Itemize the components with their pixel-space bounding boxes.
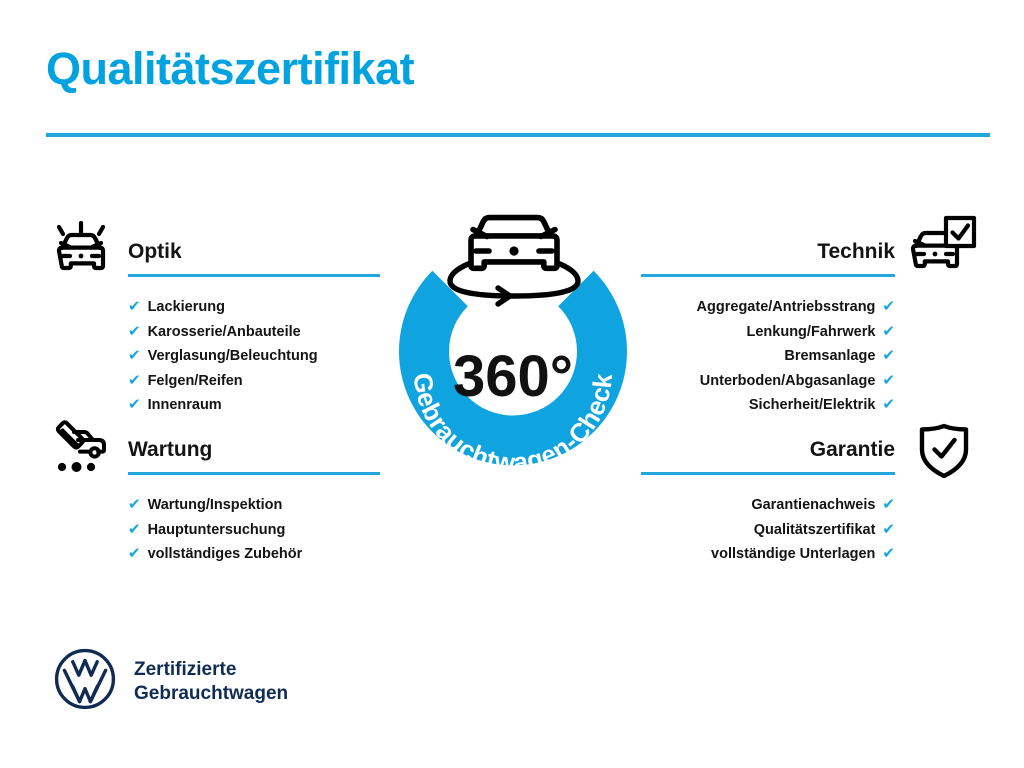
footer-logo-lockup: Zertifizierte Gebrauchtwagen — [54, 648, 288, 715]
car-checkbox-icon — [910, 214, 978, 281]
vw-logo — [54, 648, 116, 715]
list-item: ✔ Innenraum — [128, 393, 380, 418]
list-item-label: Bremsanlage — [784, 345, 875, 369]
service-book-pencil-car-icon — [48, 417, 114, 480]
check-icon: ✔ — [882, 393, 895, 417]
badge-360-check: 360° Gebrauchtwagen-Check — [370, 196, 656, 486]
car-shine-icon — [48, 213, 114, 284]
list-item: ✔ Verglasung/Beleuchtung — [128, 344, 380, 369]
check-icon: ✔ — [882, 542, 895, 566]
section-technik: Technik Aggregate/Antriebsstrang ✔ Lenku… — [641, 238, 895, 418]
list-item: Unterboden/Abgasanlage ✔ — [641, 369, 895, 394]
check-icon: ✔ — [882, 320, 895, 344]
list-item: Bremsanlage ✔ — [641, 344, 895, 369]
section-header: Technik — [641, 238, 895, 278]
check-icon: ✔ — [128, 393, 141, 417]
check-icon: ✔ — [128, 320, 141, 344]
section-divider — [128, 274, 380, 277]
check-icon: ✔ — [128, 493, 141, 517]
title-divider — [46, 133, 990, 137]
list-item-label: Felgen/Reifen — [148, 370, 243, 394]
footer-line-1: Zertifizierte — [134, 659, 236, 680]
checklist-technik: Aggregate/Antriebsstrang ✔ Lenkung/Fahrw… — [641, 295, 895, 418]
section-divider — [641, 472, 895, 475]
checklist-garantie: Garantienachweis ✔ Qualitätszertifikat ✔… — [641, 493, 895, 567]
list-item-label: Sicherheit/Elektrik — [749, 394, 876, 418]
page-title: Qualitätszertifikat — [46, 44, 414, 94]
list-item: Qualitätszertifikat ✔ — [641, 518, 895, 543]
section-optik: Optik ✔ Lackierung ✔ Karosserie/Anbautei… — [128, 238, 380, 418]
footer-line-2: Gebrauchtwagen — [134, 683, 288, 704]
list-item: Lenkung/Fahrwerk ✔ — [641, 320, 895, 345]
list-item: ✔ Karosserie/Anbauteile — [128, 320, 380, 345]
list-item-label: Hauptuntersuchung — [148, 519, 286, 543]
check-icon: ✔ — [882, 344, 895, 368]
list-item: vollständige Unterlagen ✔ — [641, 542, 895, 567]
certificate-page: Qualitätszertifikat Optik ✔ Lackierung — [0, 0, 1024, 768]
list-item-label: Lenkung/Fahrwerk — [747, 321, 876, 345]
car-rotation-icon — [450, 218, 578, 304]
list-item: ✔ vollständiges Zubehör — [128, 542, 380, 567]
list-item: ✔ Lackierung — [128, 295, 380, 320]
list-item: ✔ Felgen/Reifen — [128, 369, 380, 394]
check-icon: ✔ — [128, 542, 141, 566]
list-item-label: Verglasung/Beleuchtung — [148, 345, 318, 369]
section-title: Wartung — [128, 436, 380, 464]
shield-check-icon — [917, 422, 971, 485]
section-garantie: Garantie Garantienachweis ✔ Qualitätszer… — [641, 436, 895, 567]
list-item-label: Qualitätszertifikat — [754, 519, 876, 543]
section-divider — [641, 274, 895, 277]
check-icon: ✔ — [882, 295, 895, 319]
list-item-label: vollständiges Zubehör — [148, 543, 303, 567]
check-icon: ✔ — [128, 295, 141, 319]
check-icon: ✔ — [128, 369, 141, 393]
checklist-wartung: ✔ Wartung/Inspektion ✔ Hauptuntersuchung… — [128, 493, 380, 567]
footer-logo-text: Zertifizierte Gebrauchtwagen — [134, 658, 288, 706]
list-item-label: Karosserie/Anbauteile — [148, 321, 301, 345]
list-item-label: Unterboden/Abgasanlage — [700, 370, 876, 394]
list-item-label: Aggregate/Antriebsstrang — [697, 296, 876, 320]
list-item-label: Garantienachweis — [751, 494, 875, 518]
checklist-optik: ✔ Lackierung ✔ Karosserie/Anbauteile ✔ V… — [128, 295, 380, 418]
section-title: Optik — [128, 238, 380, 266]
list-item-label: Innenraum — [148, 394, 222, 418]
check-icon: ✔ — [128, 344, 141, 368]
list-item: Sicherheit/Elektrik ✔ — [641, 393, 895, 418]
list-item: ✔ Wartung/Inspektion — [128, 493, 380, 518]
check-icon: ✔ — [882, 518, 895, 542]
list-item-label: Wartung/Inspektion — [148, 494, 283, 518]
check-icon: ✔ — [882, 493, 895, 517]
section-wartung: Wartung ✔ Wartung/Inspektion ✔ Hauptunte… — [128, 436, 380, 567]
section-divider — [128, 472, 380, 475]
section-title: Garantie — [641, 436, 895, 464]
section-title: Technik — [641, 238, 895, 266]
check-icon: ✔ — [882, 369, 895, 393]
list-item: Garantienachweis ✔ — [641, 493, 895, 518]
list-item-label: vollständige Unterlagen — [711, 543, 875, 567]
check-icon: ✔ — [128, 518, 141, 542]
section-header: Optik — [128, 238, 380, 278]
badge-center-label: 360° — [453, 344, 573, 409]
list-item: ✔ Hauptuntersuchung — [128, 518, 380, 543]
list-item-label: Lackierung — [148, 296, 225, 320]
list-item: Aggregate/Antriebsstrang ✔ — [641, 295, 895, 320]
section-header: Garantie — [641, 436, 895, 476]
section-header: Wartung — [128, 436, 380, 476]
